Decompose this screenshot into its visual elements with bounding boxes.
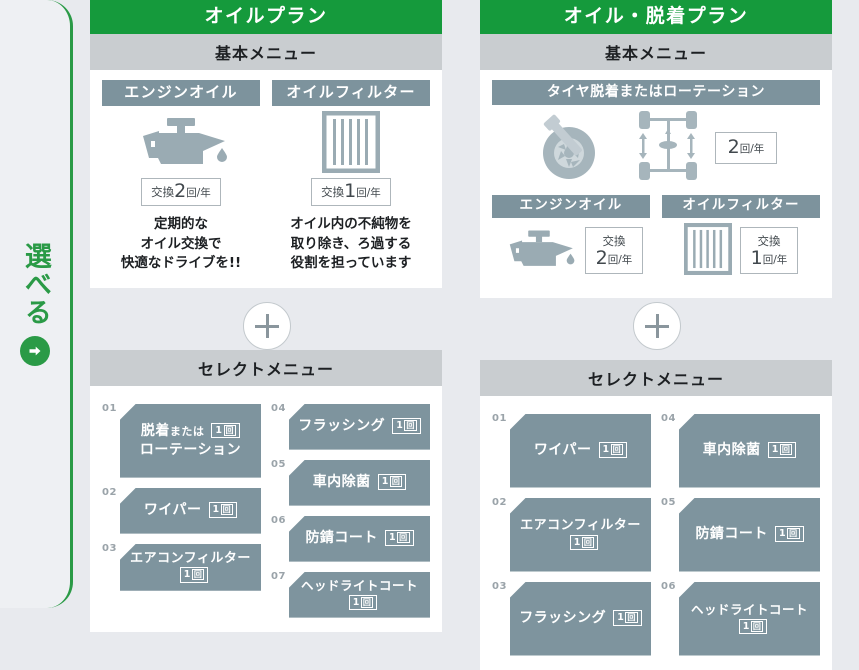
basic-item-oil-filter[interactable]: オイルフィルター [662,195,820,284]
card-label: 防錆コート [305,530,378,546]
basic-item-label: タイヤ脱着またはローテーション [492,80,820,105]
count-badge: 1回 [570,535,599,551]
count-unit: 回 [397,532,410,543]
count-unit: 回 [787,528,800,539]
item-number: 04 [661,413,676,424]
count-badge: 1回 [775,526,804,542]
plan-title: オイル・脱着プラン [480,0,832,34]
basic-item-label: エンジンオイル [102,80,260,106]
plus-circle-icon [633,302,681,350]
count-value: 1 [574,537,581,548]
basic-item-tire-rotation[interactable]: タイヤ脱着またはローテーション [492,80,820,191]
count-badge: 1回 [768,442,797,458]
select-menu-heading: セレクトメニュー [480,360,832,396]
basic-menu-panel: 基本メニュー エンジンオイル [90,34,442,288]
card-label: ヘッドライトコート [691,602,808,617]
select-card[interactable]: ヘッドライトコート1回 [289,572,430,618]
oil-filter-icon [684,223,732,279]
count-value: 1 [743,621,750,632]
count-unit: 回 [361,597,374,608]
count-badge: 1回 [385,530,414,546]
item-number: 06 [271,515,286,526]
count-value: 1 [389,532,396,543]
list-item[interactable]: 02 ワイパー1回 [102,488,261,534]
select-card[interactable]: ワイパー1回 [120,488,261,534]
count-value: 1 [353,597,360,608]
select-card[interactable]: 脱着または1回 ローテーション [120,404,261,478]
count-unit: 回 [611,444,624,455]
oil-filter-icon [272,106,430,178]
item-number: 02 [492,497,507,508]
badge-number: 2 [728,136,740,158]
list-item[interactable]: 07 ヘッドライトコート1回 [271,572,430,618]
list-item[interactable]: 05 車内除菌1回 [271,460,430,506]
select-card[interactable]: フラッシング1回 [289,404,430,450]
select-card[interactable]: エアコンフィルター1回 [120,544,261,591]
replace-frequency-badge: 交換2回/年 [141,178,221,206]
count-value: 1 [772,444,779,455]
select-card[interactable]: フラッシング1回 [510,582,651,656]
count-value: 1 [382,476,389,487]
tire-frequency-badge: 2回/年 [715,132,778,164]
card-label: 脱着 [141,423,170,439]
card-label: エアコンフィルター [520,518,641,533]
tire-wrench-icon [535,109,625,187]
badge-prefix: 交換 [757,234,780,248]
item-number: 02 [102,487,117,498]
list-item[interactable]: 06 防錆コート1回 [271,516,430,562]
basic-item-description: 定期的な オイル交換で 快適なドライブを!! [102,215,260,274]
replace-frequency-badge: 交換 1回/年 [740,227,799,274]
plus-circle-icon [243,302,291,350]
basic-item-engine-oil[interactable]: エンジンオイル [102,80,260,274]
card-label-line2: ローテーション [140,442,241,458]
badge-unit: 回/年 [763,254,788,266]
card-label: 車内除菌 [703,442,761,458]
list-item[interactable]: 04 フラッシング1回 [271,404,430,450]
count-badge: 1回 [209,502,238,518]
list-item[interactable]: 06 ヘッドライトコート1回 [661,582,820,656]
item-number: 01 [492,413,507,424]
item-number: 07 [271,571,286,582]
badge-number: 1 [751,247,763,269]
count-unit: 回 [192,569,205,580]
basic-item-oil-filter[interactable]: オイルフィルター [272,80,430,274]
badge-unit: 回/年 [186,187,211,199]
count-unit: 回 [751,621,764,632]
item-number: 05 [271,459,286,470]
choose-rail: 選べる [0,0,73,608]
item-number: 06 [661,581,676,592]
item-number: 05 [661,497,676,508]
badge-unit: 回/年 [740,143,765,155]
select-column: 04 フラッシング1回 05 車内除菌1回 06 [271,404,430,618]
basic-item-label: オイルフィルター [662,195,820,218]
item-number: 04 [271,403,286,414]
count-value: 1 [617,612,624,623]
count-value: 1 [603,444,610,455]
list-item[interactable]: 03 フラッシング1回 [492,582,651,656]
count-value: 1 [215,425,222,436]
basic-menu-heading: 基本メニュー [480,34,832,70]
oil-can-icon [499,227,579,275]
arrow-right-circle-icon[interactable] [20,336,50,366]
basic-item-engine-oil[interactable]: エンジンオイル [492,195,650,284]
card-label: 車内除菌 [313,474,371,490]
count-unit: 回 [224,425,237,436]
select-card[interactable]: ヘッドライトコート1回 [679,582,820,656]
select-card[interactable]: 車内除菌1回 [679,414,820,488]
card-label: フラッシング [298,418,385,434]
item-number: 03 [492,581,507,592]
basic-item-label: エンジンオイル [492,195,650,218]
list-item[interactable]: 02 エアコンフィルター1回 [492,498,651,572]
count-badge: 1回 [392,418,421,434]
badge-prefix: 交換 [151,185,174,199]
count-badge: 1回 [180,567,209,583]
count-badge: 1回 [599,442,628,458]
basic-menu-panel: 基本メニュー タイヤ脱着またはローテーション [480,34,832,298]
replace-frequency-badge: 交換 2回/年 [585,227,644,274]
count-unit: 回 [404,420,417,431]
badge-unit: 回/年 [356,187,381,199]
count-unit: 回 [390,476,403,487]
plan-column-oil-tire: オイル・脱着プラン 基本メニュー タイヤ脱着またはローテーション [480,0,832,670]
count-badge: 1回 [211,423,240,439]
badge-prefix: 交換 [602,234,625,248]
count-badge: 1回 [613,610,642,626]
item-number: 03 [102,543,117,554]
count-unit: 回 [780,444,793,455]
count-unit: 回 [221,504,234,515]
count-badge: 1回 [739,619,768,635]
card-label: 防錆コート [695,526,768,542]
count-badge: 1回 [378,474,407,490]
card-label: エアコンフィルター [130,551,251,566]
list-item[interactable]: 05 防錆コート1回 [661,498,820,572]
badge-prefix: 交換 [321,185,344,199]
select-card[interactable]: 車内除菌1回 [289,460,430,506]
count-value: 1 [213,504,220,515]
card-label: フラッシング [519,610,606,626]
select-menu-heading: セレクトメニュー [90,350,442,386]
card-label-small: または [170,425,205,438]
rail-label: 選べる [19,242,51,326]
plan-title: オイルプラン [90,0,442,34]
count-unit: 回 [582,537,595,548]
select-menu-panel: セレクトメニュー 01 脱着または1回 ローテーション [90,350,442,632]
item-number: 01 [102,403,117,414]
badge-unit: 回/年 [608,254,633,266]
select-column: 04 車内除菌1回 05 防錆コート1回 06 [661,414,820,656]
select-card[interactable]: エアコンフィルター1回 [510,498,651,572]
card-label: ヘッドライトコート [301,578,418,593]
basic-item-description: オイル内の不純物を 取り除き、ろ過する 役割を担っています [272,215,430,274]
select-card[interactable]: ワイパー1回 [510,414,651,488]
list-item[interactable]: 03 エアコンフィルター1回 [102,544,261,591]
select-column: 01 脱着または1回 ローテーション 02 ワイパー1回 [102,404,261,618]
basic-menu-heading: 基本メニュー [90,34,442,70]
count-unit: 回 [625,612,638,623]
select-column: 01 ワイパー1回 02 エアコンフィルター1回 03 [492,414,651,656]
card-label: ワイパー [534,442,592,458]
plan-comparison-page: 選べる オイルプラン 基本メニュー エンジンオイル [0,0,859,608]
badge-number: 2 [596,247,608,269]
replace-frequency-badge: 交換1回/年 [311,178,391,206]
list-item[interactable]: 01 脱着または1回 ローテーション [102,404,261,478]
card-label: ワイパー [144,502,202,518]
oil-can-icon [102,106,260,178]
select-menu-panel: セレクトメニュー 01 ワイパー1回 02 エアコンフィ [480,360,832,670]
basic-item-label: オイルフィルター [272,80,430,106]
select-card[interactable]: 防錆コート1回 [679,498,820,572]
count-value: 1 [184,569,191,580]
badge-number: 1 [344,180,356,202]
list-item[interactable]: 01 ワイパー1回 [492,414,651,488]
chassis-rotation-icon [631,107,709,189]
plan-column-oil: オイルプラン 基本メニュー エンジンオイル [90,0,442,632]
count-value: 1 [779,528,786,539]
list-item[interactable]: 04 車内除菌1回 [661,414,820,488]
select-card[interactable]: 防錆コート1回 [289,516,430,562]
badge-number: 2 [174,180,186,202]
count-value: 1 [396,420,403,431]
